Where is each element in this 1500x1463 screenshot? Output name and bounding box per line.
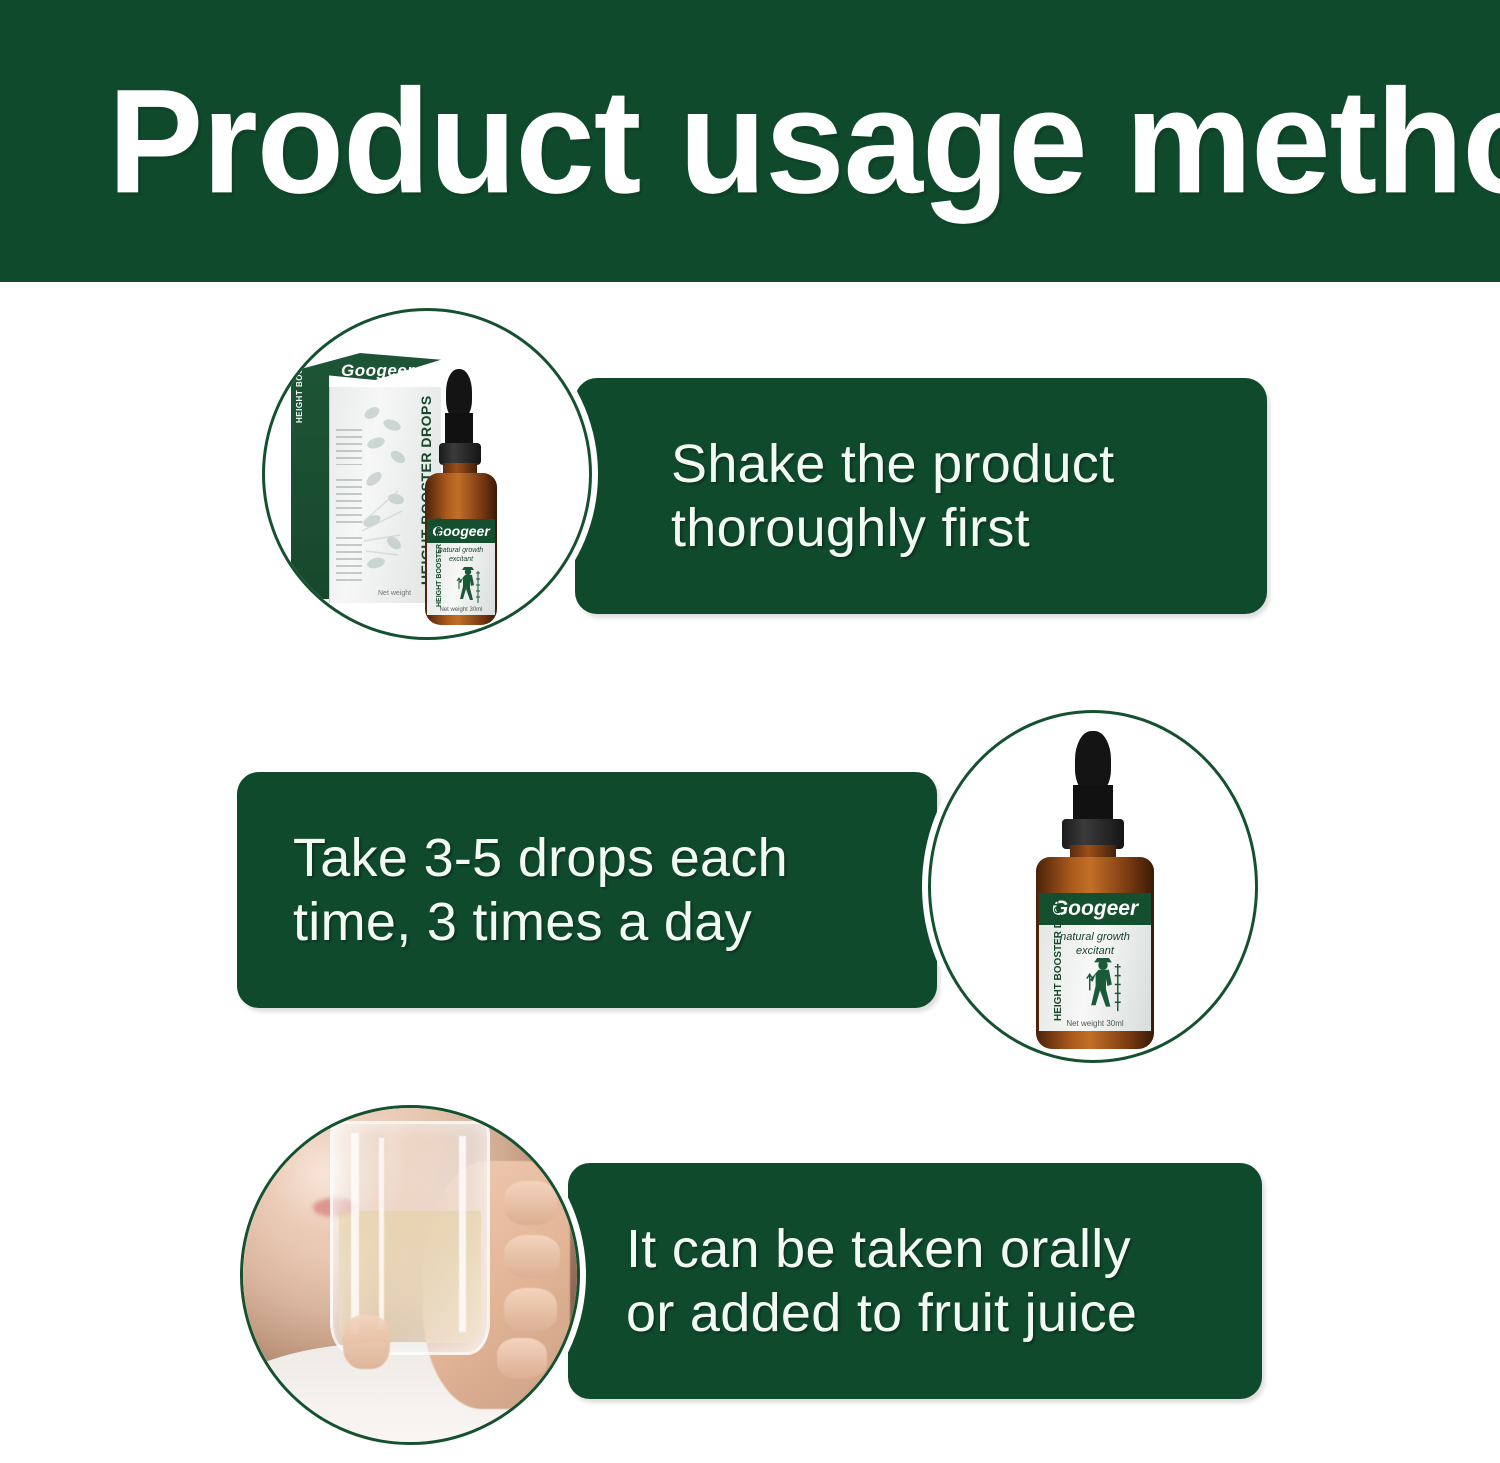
bottle-illustration: Googeer natural growth excitant HEIGHT B… — [931, 713, 1255, 1060]
bottle-net-weight: Net weight 30ml — [1039, 1019, 1151, 1028]
header-band: Product usage method — [0, 0, 1500, 282]
step-1-image-product-box: HEIGHT BOOSTER DROPS — [262, 308, 592, 640]
bottle-body: Googeer natural growth excitant HEIGHT B… — [425, 473, 497, 625]
step-2-image-bottle: Googeer natural growth excitant HEIGHT B… — [928, 710, 1258, 1063]
bottle-product-name: HEIGHT BOOSTER DROPS — [436, 517, 443, 607]
step-3-panel: It can be taken orally or added to fruit… — [568, 1163, 1262, 1399]
product-bottle: Googeer natural growth excitant HEIGHT B… — [1028, 731, 1164, 1051]
photo-finger-4 — [497, 1338, 547, 1378]
photo-glass-highlight-1 — [351, 1133, 359, 1333]
carton-side-product-name: HEIGHT BOOSTER DROPS — [295, 310, 304, 423]
carton-net-weight: Net weight — [378, 590, 411, 597]
step-1-panel: Shake the product thoroughly first — [575, 378, 1267, 614]
bottle-dropper-bulb — [1075, 731, 1111, 793]
carton-leaf-artwork — [358, 395, 416, 585]
photo-finger-2 — [504, 1235, 561, 1278]
bottle-body: Googeer natural growth excitant HEIGHT B… — [1036, 857, 1154, 1049]
bottle-label: natural growth excitant HEIGHT BOOSTER D… — [1039, 925, 1151, 1031]
photo-glass-highlight-3 — [459, 1136, 465, 1332]
step-2-panel: Take 3-5 drops each time, 3 times a day — [237, 772, 937, 1008]
step-2-text: Take 3-5 drops each time, 3 times a day — [293, 826, 788, 954]
bottle-net-weight: Net weight 30ml — [427, 607, 495, 613]
bottle-dropper-stem — [445, 413, 473, 447]
photo-finger-3 — [504, 1288, 557, 1331]
photo-finger-1 — [504, 1181, 557, 1224]
carton-left-side-face: HEIGHT BOOSTER DROPS — [291, 371, 329, 599]
product-bottle: Googeer natural growth excitant HEIGHT B… — [413, 369, 513, 631]
bottle-cap-collar — [439, 443, 481, 465]
drinking-water-illustration — [243, 1108, 577, 1442]
product-box-illustration: HEIGHT BOOSTER DROPS — [265, 311, 589, 637]
photo-glass-highlight-2 — [379, 1138, 384, 1329]
step-3-text: It can be taken orally or added to fruit… — [626, 1217, 1137, 1345]
bottle-label: natural growth excitant HEIGHT BOOSTER D… — [427, 543, 495, 615]
walking-man-icon — [1079, 955, 1127, 1017]
photo-thumb — [343, 1315, 390, 1368]
bottle-dropper-bulb — [446, 369, 472, 419]
page-title: Product usage method — [108, 62, 1434, 232]
walking-man-icon — [453, 565, 483, 607]
bottle-product-name: HEIGHT BOOSTER DROPS — [1053, 893, 1064, 1021]
carton-brand-name: Googeer — [341, 361, 414, 381]
step-1-text: Shake the product thoroughly first — [671, 432, 1114, 560]
step-3-image-person-drinking — [240, 1105, 580, 1445]
